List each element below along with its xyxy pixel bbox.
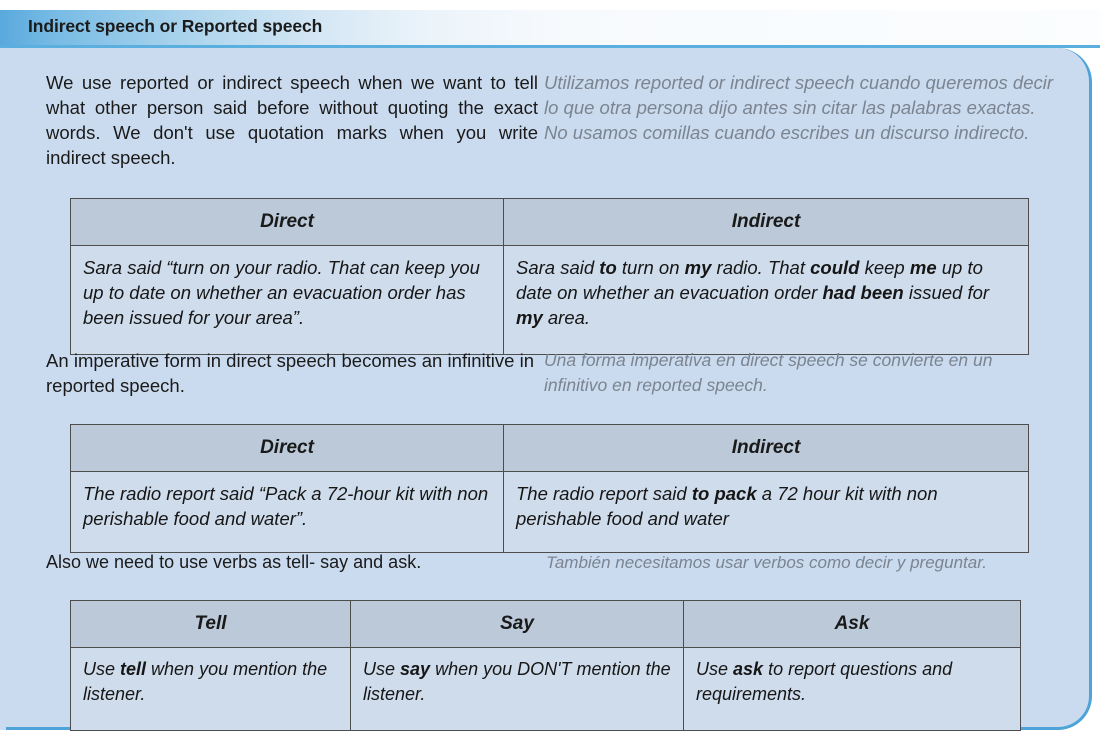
table-direct-indirect-kit: Direct Indirect The radio report said “P…	[70, 424, 1029, 553]
table-row: The radio report said “Pack a 72-hour ki…	[71, 472, 1029, 553]
cell-tell: Use tell when you mention the listener.	[71, 648, 351, 731]
table-tell-say-ask: Tell Say Ask Use tell when you mention t…	[70, 600, 1021, 731]
column-header-indirect: Indirect	[504, 425, 1029, 472]
cell-direct: Sara said “turn on your radio. That can …	[71, 246, 504, 355]
content-area: We use reported or indirect speech when …	[0, 48, 1092, 730]
column-header-direct: Direct	[71, 425, 504, 472]
explanation-english-1: We use reported or indirect speech when …	[46, 70, 538, 170]
page-title: Indirect speech or Reported speech	[28, 16, 322, 37]
cell-ask: Use ask to report questions and requirem…	[684, 648, 1021, 731]
table-row: Use tell when you mention the listener. …	[71, 648, 1021, 731]
column-header-indirect: Indirect	[504, 199, 1029, 246]
table-row: Sara said “turn on your radio. That can …	[71, 246, 1029, 355]
explanation-row-3: Also we need to use verbs as tell- say a…	[46, 550, 1046, 575]
cell-direct: The radio report said “Pack a 72-hour ki…	[71, 472, 504, 553]
worksheet-page: Indirect speech or Reported speech We us…	[0, 0, 1100, 738]
explanation-english-2: An imperative form in direct speech beco…	[46, 348, 534, 398]
table-header-row: Tell Say Ask	[71, 601, 1021, 648]
explanation-spanish-1: Utilizamos reported or indirect speech c…	[544, 70, 1054, 170]
table-header-row: Direct Indirect	[71, 425, 1029, 472]
column-header-direct: Direct	[71, 199, 504, 246]
explanation-english-3: Also we need to use verbs as tell- say a…	[46, 550, 546, 575]
cell-indirect: Sara said to turn on my radio. That coul…	[504, 246, 1029, 355]
explanation-spanish-3: También necesitamos usar verbos como dec…	[546, 550, 1046, 575]
title-bar: Indirect speech or Reported speech	[0, 10, 1100, 48]
explanation-row-1: We use reported or indirect speech when …	[46, 70, 1054, 170]
explanation-spanish-2: Una forma imperativa en direct speech se…	[544, 348, 1056, 398]
column-header-tell: Tell	[71, 601, 351, 648]
column-header-say: Say	[351, 601, 684, 648]
cell-say: Use say when you DON'T mention the liste…	[351, 648, 684, 731]
explanation-row-2: An imperative form in direct speech beco…	[46, 348, 1056, 398]
cell-indirect: The radio report said to pack a 72 hour …	[504, 472, 1029, 553]
table-header-row: Direct Indirect	[71, 199, 1029, 246]
column-header-ask: Ask	[684, 601, 1021, 648]
table-direct-indirect-radio: Direct Indirect Sara said “turn on your …	[70, 198, 1029, 355]
